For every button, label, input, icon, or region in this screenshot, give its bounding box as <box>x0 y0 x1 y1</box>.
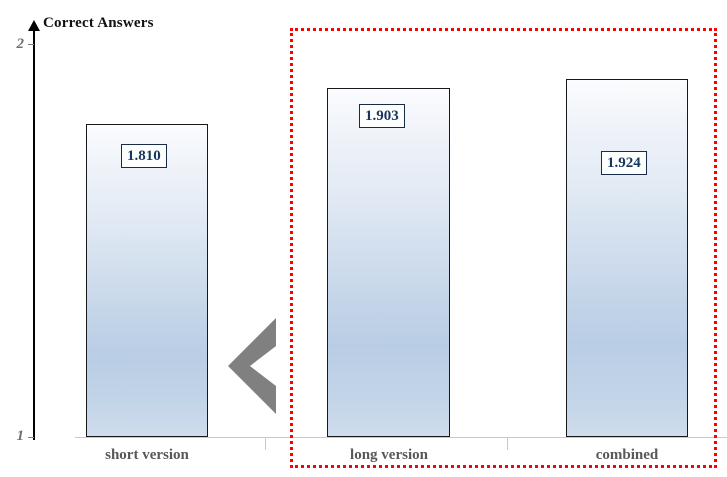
x-axis-tick-2 <box>507 438 508 450</box>
y-axis-tick-top <box>28 44 34 45</box>
value-label-long-version: 1.903 <box>359 104 405 128</box>
category-label-combined: combined <box>596 447 659 464</box>
category-label-long-version: long version <box>350 447 428 464</box>
bar-chart: Correct Answers 2 1 1.810 1.903 1.924 sh… <box>0 0 727 477</box>
value-label-short-version: 1.810 <box>121 144 167 168</box>
x-axis-baseline <box>75 437 727 438</box>
y-axis-tick-bottom <box>28 437 34 438</box>
y-axis-label-bottom: 1 <box>2 428 24 445</box>
y-axis-label-top: 2 <box>2 36 24 53</box>
chart-title: Correct Answers <box>43 15 154 32</box>
value-label-combined: 1.924 <box>601 151 647 175</box>
bar-short-version <box>86 124 208 437</box>
category-label-short-version: short version <box>105 447 189 464</box>
y-axis-line <box>33 28 35 440</box>
bar-combined <box>566 79 688 437</box>
bar-long-version <box>327 88 450 437</box>
x-axis-tick-1 <box>265 438 266 450</box>
left-chevron-icon <box>226 318 280 414</box>
